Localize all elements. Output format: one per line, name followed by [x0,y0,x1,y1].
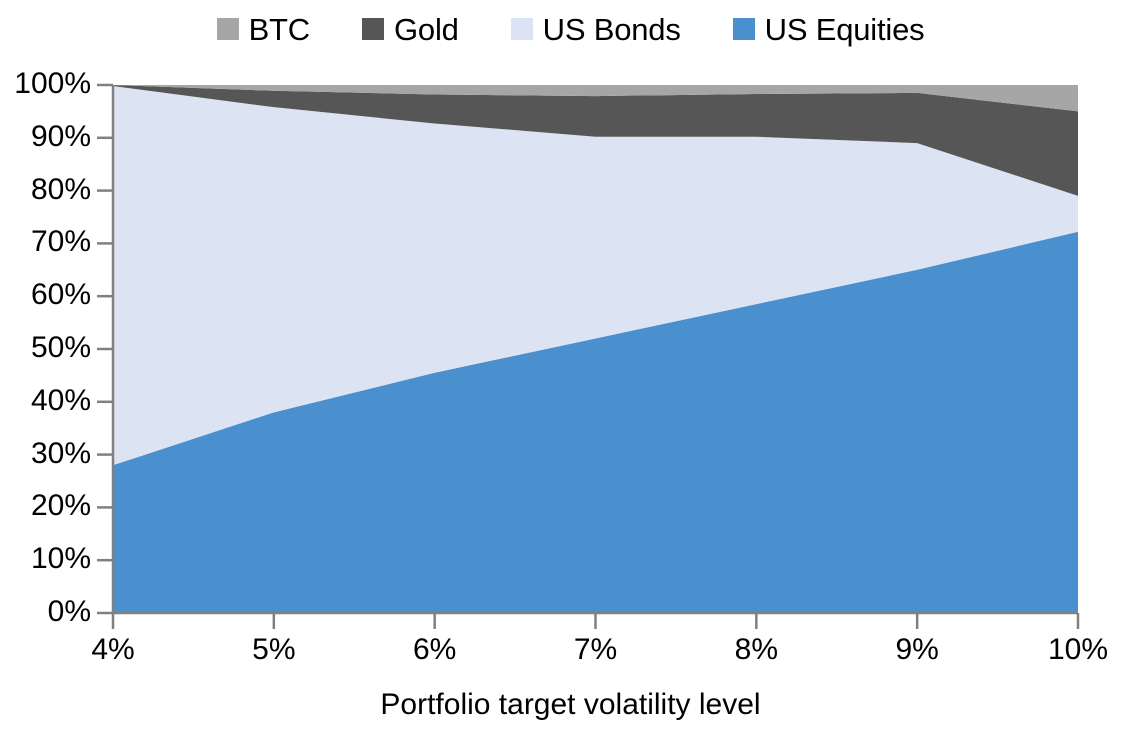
y-tick-label: 60% [0,280,91,310]
plot-svg [0,0,1141,742]
y-tick-label: 90% [0,122,91,152]
x-tick-label: 10% [1008,635,1141,665]
x-tick-label: 5% [204,635,344,665]
x-tick-label: 9% [847,635,987,665]
area-series-group [113,85,1078,613]
y-tick-label: 30% [0,439,91,469]
y-tick-label: 80% [0,175,91,205]
x-tick-label: 4% [43,635,183,665]
x-tick-label: 7% [526,635,666,665]
y-tick-label: 10% [0,544,91,574]
x-axis-title: Portfolio target volatility level [0,688,1141,722]
plot-area: 100%90%80%70%60%50%40%30%20%10%0% 4%5%6%… [0,0,1141,742]
y-tick-label: 100% [0,69,91,99]
y-tick-label: 20% [0,491,91,521]
y-tick-label: 70% [0,227,91,257]
y-tick-label: 40% [0,386,91,416]
y-tick-label: 0% [0,597,91,627]
x-tick-label: 6% [365,635,505,665]
y-tick-label: 50% [0,333,91,363]
stacked-area-chart: BTC Gold US Bonds US Equities 100%90%80%… [0,0,1141,742]
x-tick-label: 8% [686,635,826,665]
